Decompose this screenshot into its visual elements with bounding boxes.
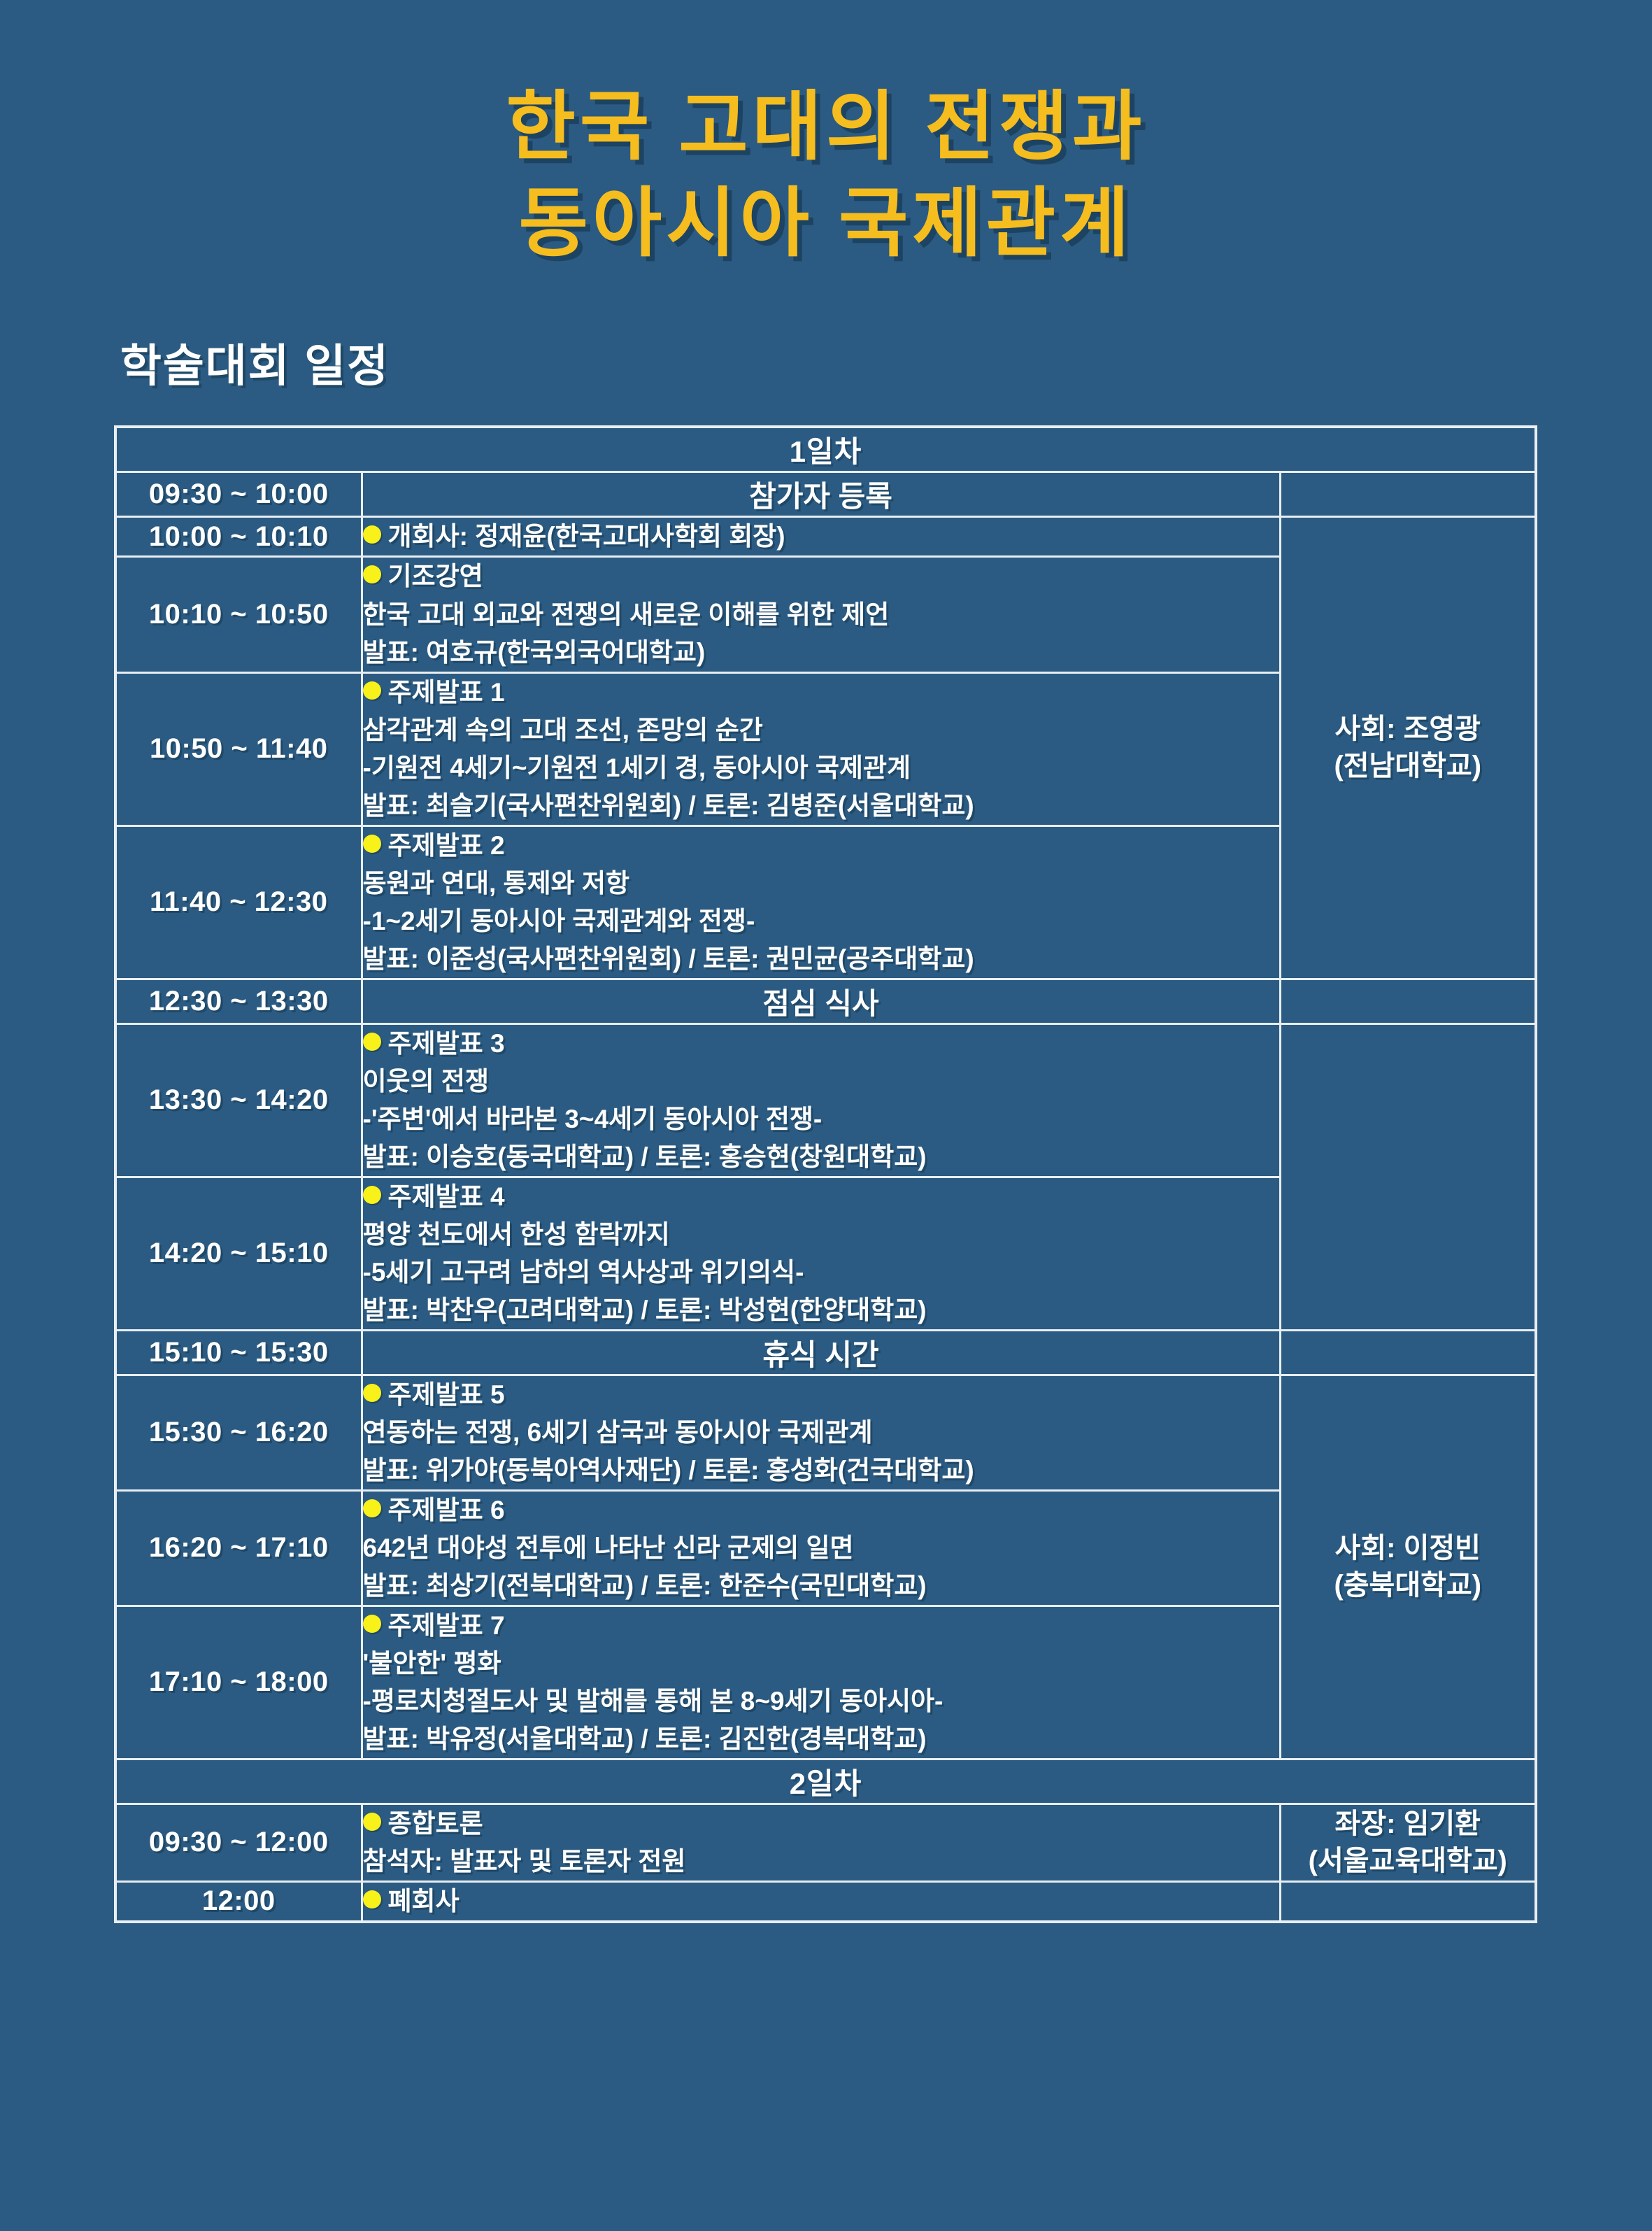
session-chair-cell: 좌장: 임기환(서울교육대학교)	[1280, 1804, 1536, 1881]
table-row: 12:30 ~ 13:30점심 식사	[115, 979, 1536, 1024]
session-lead-text: 기조강연	[388, 562, 483, 590]
schedule-time-cell: 10:50 ~ 11:40	[115, 672, 362, 826]
session-detail-line: 발표: 최상기(전북대학교) / 토론: 한준수(국민대학교)	[363, 1567, 1279, 1605]
table-row: 1일차	[115, 427, 1536, 472]
table-row: 09:30 ~ 12:00종합토론참석자: 발표자 및 토론자 전원좌장: 임기…	[115, 1804, 1536, 1881]
poster-title: 한국 고대의 전쟁과 동아시아 국제관계	[0, 0, 1652, 271]
schedule-session-cell: 폐회사	[362, 1881, 1280, 1922]
session-detail-line: -1~2세기 동아시아 국제관계와 전쟁-	[363, 902, 1279, 940]
session-lead-line: 주제발표 4	[363, 1178, 1279, 1216]
session-detail-line: 삼각관계 속의 고대 조선, 존망의 순간	[363, 711, 1279, 749]
session-detail-line: '불안한' 평화	[363, 1645, 1279, 1683]
session-detail-line: 발표: 위가야(동북아역사재단) / 토론: 홍성화(건국대학교)	[363, 1452, 1279, 1489]
session-lead-line: 기조강연	[363, 558, 1279, 595]
schedule-time-cell: 16:20 ~ 17:10	[115, 1490, 362, 1606]
session-lead-line: 주제발표 7	[363, 1607, 1279, 1645]
chair-affiliation: (충북대학교)	[1281, 1567, 1535, 1604]
schedule-time-cell: 15:10 ~ 15:30	[115, 1330, 362, 1375]
bullet-icon	[363, 565, 381, 583]
schedule-break-label: 참가자 등록	[362, 472, 1280, 517]
session-detail-line: 이웃의 전쟁	[363, 1063, 1279, 1100]
session-chair-cell: 사회: 이정빈(충북대학교)	[1280, 1375, 1536, 1759]
session-lead-line: 주제발표 6	[363, 1492, 1279, 1529]
empty-cell	[1280, 1881, 1536, 1922]
schedule-session-cell: 주제발표 3이웃의 전쟁-'주변'에서 바라본 3~4세기 동아시아 전쟁-발표…	[362, 1024, 1280, 1177]
table-row: 13:30 ~ 14:20주제발표 3이웃의 전쟁-'주변'에서 바라본 3~4…	[115, 1024, 1536, 1177]
session-detail-line: -평로치청절도사 및 발해를 통해 본 8~9세기 동아시아-	[363, 1683, 1279, 1720]
session-lead-line: 폐회사	[363, 1883, 1279, 1920]
schedule-time-cell: 13:30 ~ 14:20	[115, 1024, 362, 1177]
day1-header: 1일차	[115, 427, 1536, 472]
session-lead-text: 주제발표 7	[388, 1611, 505, 1640]
chair-affiliation: (전남대학교)	[1281, 748, 1535, 785]
session-detail-line: 발표: 이승호(동국대학교) / 토론: 홍승현(창원대학교)	[363, 1138, 1279, 1176]
session-detail-line: 평양 천도에서 한성 함락까지	[363, 1216, 1279, 1254]
session-detail-line: 연동하는 전쟁, 6세기 삼국과 동아시아 국제관계	[363, 1414, 1279, 1452]
session-lead-text: 주제발표 6	[388, 1496, 505, 1524]
schedule-session-cell: 개회사: 정재윤(한국고대사학회 회장)	[362, 517, 1280, 557]
schedule-session-cell: 기조강연한국 고대 외교와 전쟁의 새로운 이해를 위한 제언발표: 여호규(한…	[362, 557, 1280, 672]
schedule-session-cell: 주제발표 1삼각관계 속의 고대 조선, 존망의 순간-기원전 4세기~기원전 …	[362, 672, 1280, 826]
session-detail-line: 발표: 여호규(한국외국어대학교)	[363, 634, 1279, 672]
schedule-session-cell: 종합토론참석자: 발표자 및 토론자 전원	[362, 1804, 1280, 1881]
session-lead-text: 주제발표 3	[388, 1029, 505, 1058]
schedule-session-cell: 주제발표 5연동하는 전쟁, 6세기 삼국과 동아시아 국제관계발표: 위가야(…	[362, 1375, 1280, 1490]
chair-name: 사회: 조영광	[1281, 711, 1535, 748]
schedule-time-cell: 11:40 ~ 12:30	[115, 826, 362, 979]
schedule-time-cell: 15:30 ~ 16:20	[115, 1375, 362, 1490]
session-chair-cell: 사회: 조영광(전남대학교)	[1280, 517, 1536, 979]
session-lead-line: 주제발표 3	[363, 1025, 1279, 1063]
schedule-time-cell: 10:00 ~ 10:10	[115, 517, 362, 557]
session-chair-cell	[1280, 1024, 1536, 1330]
table-row: 2일차	[115, 1759, 1536, 1804]
chair-affiliation: (서울교육대학교)	[1281, 1843, 1535, 1880]
session-detail-line: 참석자: 발표자 및 토론자 전원	[363, 1843, 1279, 1881]
schedule-break-label: 휴식 시간	[362, 1330, 1280, 1375]
bullet-icon	[363, 1813, 381, 1831]
session-lead-text: 주제발표 5	[388, 1380, 505, 1409]
schedule-table: 1일차09:30 ~ 10:00참가자 등록10:00 ~ 10:10개회사: …	[114, 425, 1537, 1923]
session-detail-line: 동원과 연대, 통제와 저항	[363, 865, 1279, 902]
bullet-icon	[363, 681, 381, 700]
schedule-session-cell: 주제발표 4평양 천도에서 한성 함락까지-5세기 고구려 남하의 역사상과 위…	[362, 1177, 1280, 1330]
day2-header: 2일차	[115, 1759, 1536, 1804]
schedule-break-label: 점심 식사	[362, 979, 1280, 1024]
session-detail-line: 발표: 박찬우(고려대학교) / 토론: 박성현(한양대학교)	[363, 1291, 1279, 1329]
session-detail-line: 642년 대야성 전투에 나타난 신라 군제의 일면	[363, 1529, 1279, 1567]
schedule-session-cell: 주제발표 7'불안한' 평화-평로치청절도사 및 발해를 통해 본 8~9세기 …	[362, 1606, 1280, 1759]
schedule-time-cell: 12:30 ~ 13:30	[115, 979, 362, 1024]
session-lead-line: 주제발표 1	[363, 674, 1279, 711]
bullet-icon	[363, 1499, 381, 1517]
schedule-time-cell: 17:10 ~ 18:00	[115, 1606, 362, 1759]
session-lead-line: 종합토론	[363, 1805, 1279, 1843]
session-lead-text: 주제발표 4	[388, 1182, 505, 1211]
session-lead-line: 주제발표 2	[363, 827, 1279, 865]
bullet-icon	[363, 1033, 381, 1051]
table-row: 15:30 ~ 16:20주제발표 5연동하는 전쟁, 6세기 삼국과 동아시아…	[115, 1375, 1536, 1490]
section-heading: 학술대회 일정	[120, 330, 1652, 395]
bullet-icon	[363, 1615, 381, 1633]
session-detail-line: 발표: 이준성(국사편찬위원회) / 토론: 권민균(공주대학교)	[363, 940, 1279, 978]
session-lead-line: 주제발표 5	[363, 1376, 1279, 1414]
session-lead-line: 개회사: 정재윤(한국고대사학회 회장)	[363, 518, 1279, 555]
table-row: 10:00 ~ 10:10개회사: 정재윤(한국고대사학회 회장)사회: 조영광…	[115, 517, 1536, 557]
session-lead-text: 주제발표 1	[388, 678, 505, 707]
bullet-icon	[363, 1186, 381, 1204]
bullet-icon	[363, 1384, 381, 1402]
empty-cell	[1280, 979, 1536, 1024]
title-line-2: 동아시아 국제관계	[0, 175, 1652, 271]
session-detail-line: 발표: 최슬기(국사편찬위원회) / 토론: 김병준(서울대학교)	[363, 787, 1279, 825]
session-detail-line: -5세기 고구려 남하의 역사상과 위기의식-	[363, 1254, 1279, 1291]
schedule-time-cell: 09:30 ~ 12:00	[115, 1804, 362, 1881]
session-detail-line: -'주변'에서 바라본 3~4세기 동아시아 전쟁-	[363, 1100, 1279, 1138]
schedule-time-cell: 09:30 ~ 10:00	[115, 472, 362, 517]
bullet-icon	[363, 525, 381, 544]
schedule-time-cell: 14:20 ~ 15:10	[115, 1177, 362, 1330]
chair-name: 사회: 이정빈	[1281, 1530, 1535, 1567]
session-lead-text: 폐회사	[388, 1887, 460, 1915]
session-detail-line: 한국 고대 외교와 전쟁의 새로운 이해를 위한 제언	[363, 596, 1279, 634]
session-detail-line: -기원전 4세기~기원전 1세기 경, 동아시아 국제관계	[363, 749, 1279, 787]
session-lead-text: 개회사: 정재윤(한국고대사학회 회장)	[388, 522, 785, 551]
table-row: 12:00폐회사	[115, 1881, 1536, 1922]
session-lead-text: 종합토론	[388, 1809, 483, 1838]
empty-cell	[1280, 1330, 1536, 1375]
session-lead-text: 주제발표 2	[388, 831, 505, 860]
schedule-table-wrapper: 1일차09:30 ~ 10:00참가자 등록10:00 ~ 10:10개회사: …	[114, 425, 1534, 1923]
empty-cell	[1280, 472, 1536, 517]
bullet-icon	[363, 1890, 381, 1908]
table-row: 09:30 ~ 10:00참가자 등록	[115, 472, 1536, 517]
schedule-time-cell: 12:00	[115, 1881, 362, 1922]
schedule-session-cell: 주제발표 6642년 대야성 전투에 나타난 신라 군제의 일면발표: 최상기(…	[362, 1490, 1280, 1606]
table-row: 15:10 ~ 15:30휴식 시간	[115, 1330, 1536, 1375]
conference-poster: 한국 고대의 전쟁과 동아시아 국제관계 학술대회 일정 1일차09:30 ~ …	[0, 0, 1652, 2231]
schedule-time-cell: 10:10 ~ 10:50	[115, 557, 362, 672]
title-line-1: 한국 고대의 전쟁과	[0, 78, 1652, 175]
schedule-session-cell: 주제발표 2동원과 연대, 통제와 저항-1~2세기 동아시아 국제관계와 전쟁…	[362, 826, 1280, 979]
chair-name: 좌장: 임기환	[1281, 1806, 1535, 1843]
bullet-icon	[363, 835, 381, 853]
session-detail-line: 발표: 박유정(서울대학교) / 토론: 김진한(경북대학교)	[363, 1720, 1279, 1758]
